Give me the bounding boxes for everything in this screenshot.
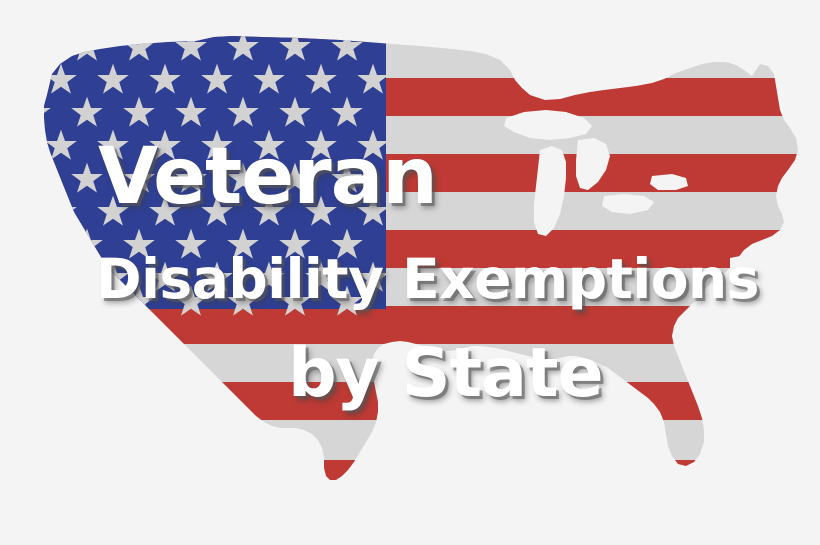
veteran-disability-exemptions-graphic: Veteran Disability Exemptions by State [0,0,820,545]
flag-map-stage: Veteran Disability Exemptions by State [0,0,820,545]
usa-flag-map-illustration [0,0,820,545]
